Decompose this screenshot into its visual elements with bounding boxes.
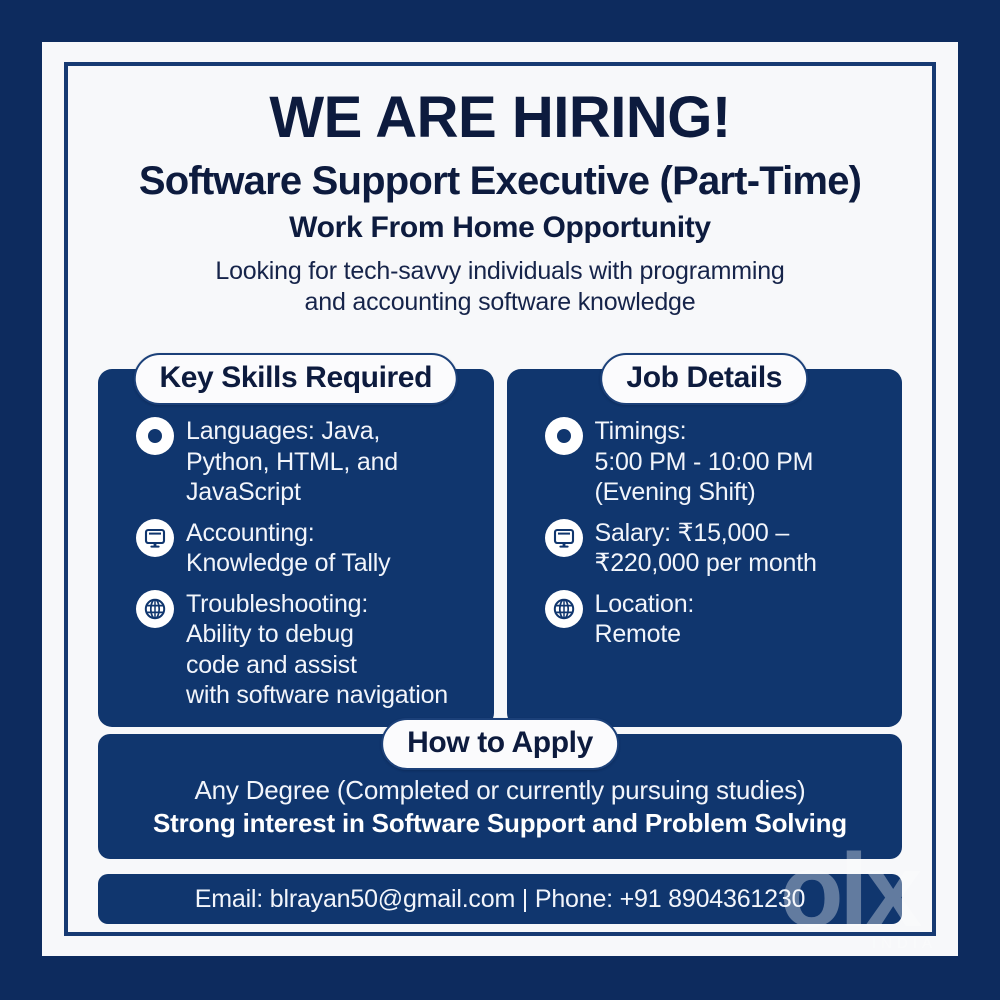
poster-content: WE ARE HIRING! Software Support Executiv… xyxy=(68,66,932,932)
globe-icon xyxy=(545,590,583,628)
list-item: Timings: 5:00 PM - 10:00 PM (Evening Shi… xyxy=(521,415,889,508)
contact-text[interactable]: Email: blrayan50@gmail.com | Phone: +91 … xyxy=(195,885,805,914)
key-skills-card: Key Skills Required Languages: Java, Pyt… xyxy=(98,369,494,727)
list-item: Troubleshooting: Ability to debug code a… xyxy=(112,588,480,711)
apply-requirement-degree: Any Degree (Completed or currently pursu… xyxy=(118,774,882,807)
list-item-text: Troubleshooting: Ability to debug code a… xyxy=(186,588,448,711)
list-item-text: Timings: 5:00 PM - 10:00 PM (Evening Shi… xyxy=(595,415,814,508)
key-skills-list: Languages: Java, Python, HTML, and JavaS… xyxy=(112,415,480,711)
list-item-text: Location: Remote xyxy=(595,588,695,650)
job-details-card: Job Details Timings: 5:00 PM - 10:00 PM … xyxy=(507,369,903,727)
contact-bar[interactable]: Email: blrayan50@gmail.com | Phone: +91 … xyxy=(98,874,902,924)
list-item: Accounting: Knowledge of Tally xyxy=(112,517,480,579)
intro-line-1: Looking for tech-savvy individuals with … xyxy=(68,256,932,288)
list-item-text: Accounting: Knowledge of Tally xyxy=(186,517,390,579)
dot-icon xyxy=(545,417,583,455)
list-item-text: Languages: Java, Python, HTML, and JavaS… xyxy=(186,415,398,508)
job-details-badge: Job Details xyxy=(600,353,808,405)
list-item: Salary: ₹15,000 – ₹220,000 per month xyxy=(521,517,889,579)
list-item: Location: Remote xyxy=(521,588,889,650)
how-to-apply-card: How to Apply Any Degree (Completed or cu… xyxy=(98,734,902,859)
list-item-text: Salary: ₹15,000 – ₹220,000 per month xyxy=(595,517,817,579)
detail-cards-row: Key Skills Required Languages: Java, Pyt… xyxy=(98,369,902,727)
key-skills-badge: Key Skills Required xyxy=(133,353,458,405)
poster: WE ARE HIRING! Software Support Executiv… xyxy=(0,0,1000,1000)
dot-icon xyxy=(136,417,174,455)
monitor-icon xyxy=(545,519,583,557)
monitor-icon xyxy=(136,519,174,557)
work-mode-title: Work From Home Opportunity xyxy=(68,212,932,244)
page-title: WE ARE HIRING! xyxy=(68,88,932,148)
job-details-list: Timings: 5:00 PM - 10:00 PM (Evening Shi… xyxy=(521,415,889,650)
intro-text: Looking for tech-savvy individuals with … xyxy=(68,256,932,319)
intro-line-2: and accounting software knowledge xyxy=(68,287,932,319)
apply-requirement-interest: Strong interest in Software Support and … xyxy=(118,807,882,840)
list-item: Languages: Java, Python, HTML, and JavaS… xyxy=(112,415,480,508)
globe-icon xyxy=(136,590,174,628)
role-title: Software Support Executive (Part-Time) xyxy=(68,160,932,202)
how-to-apply-badge: How to Apply xyxy=(381,718,619,770)
